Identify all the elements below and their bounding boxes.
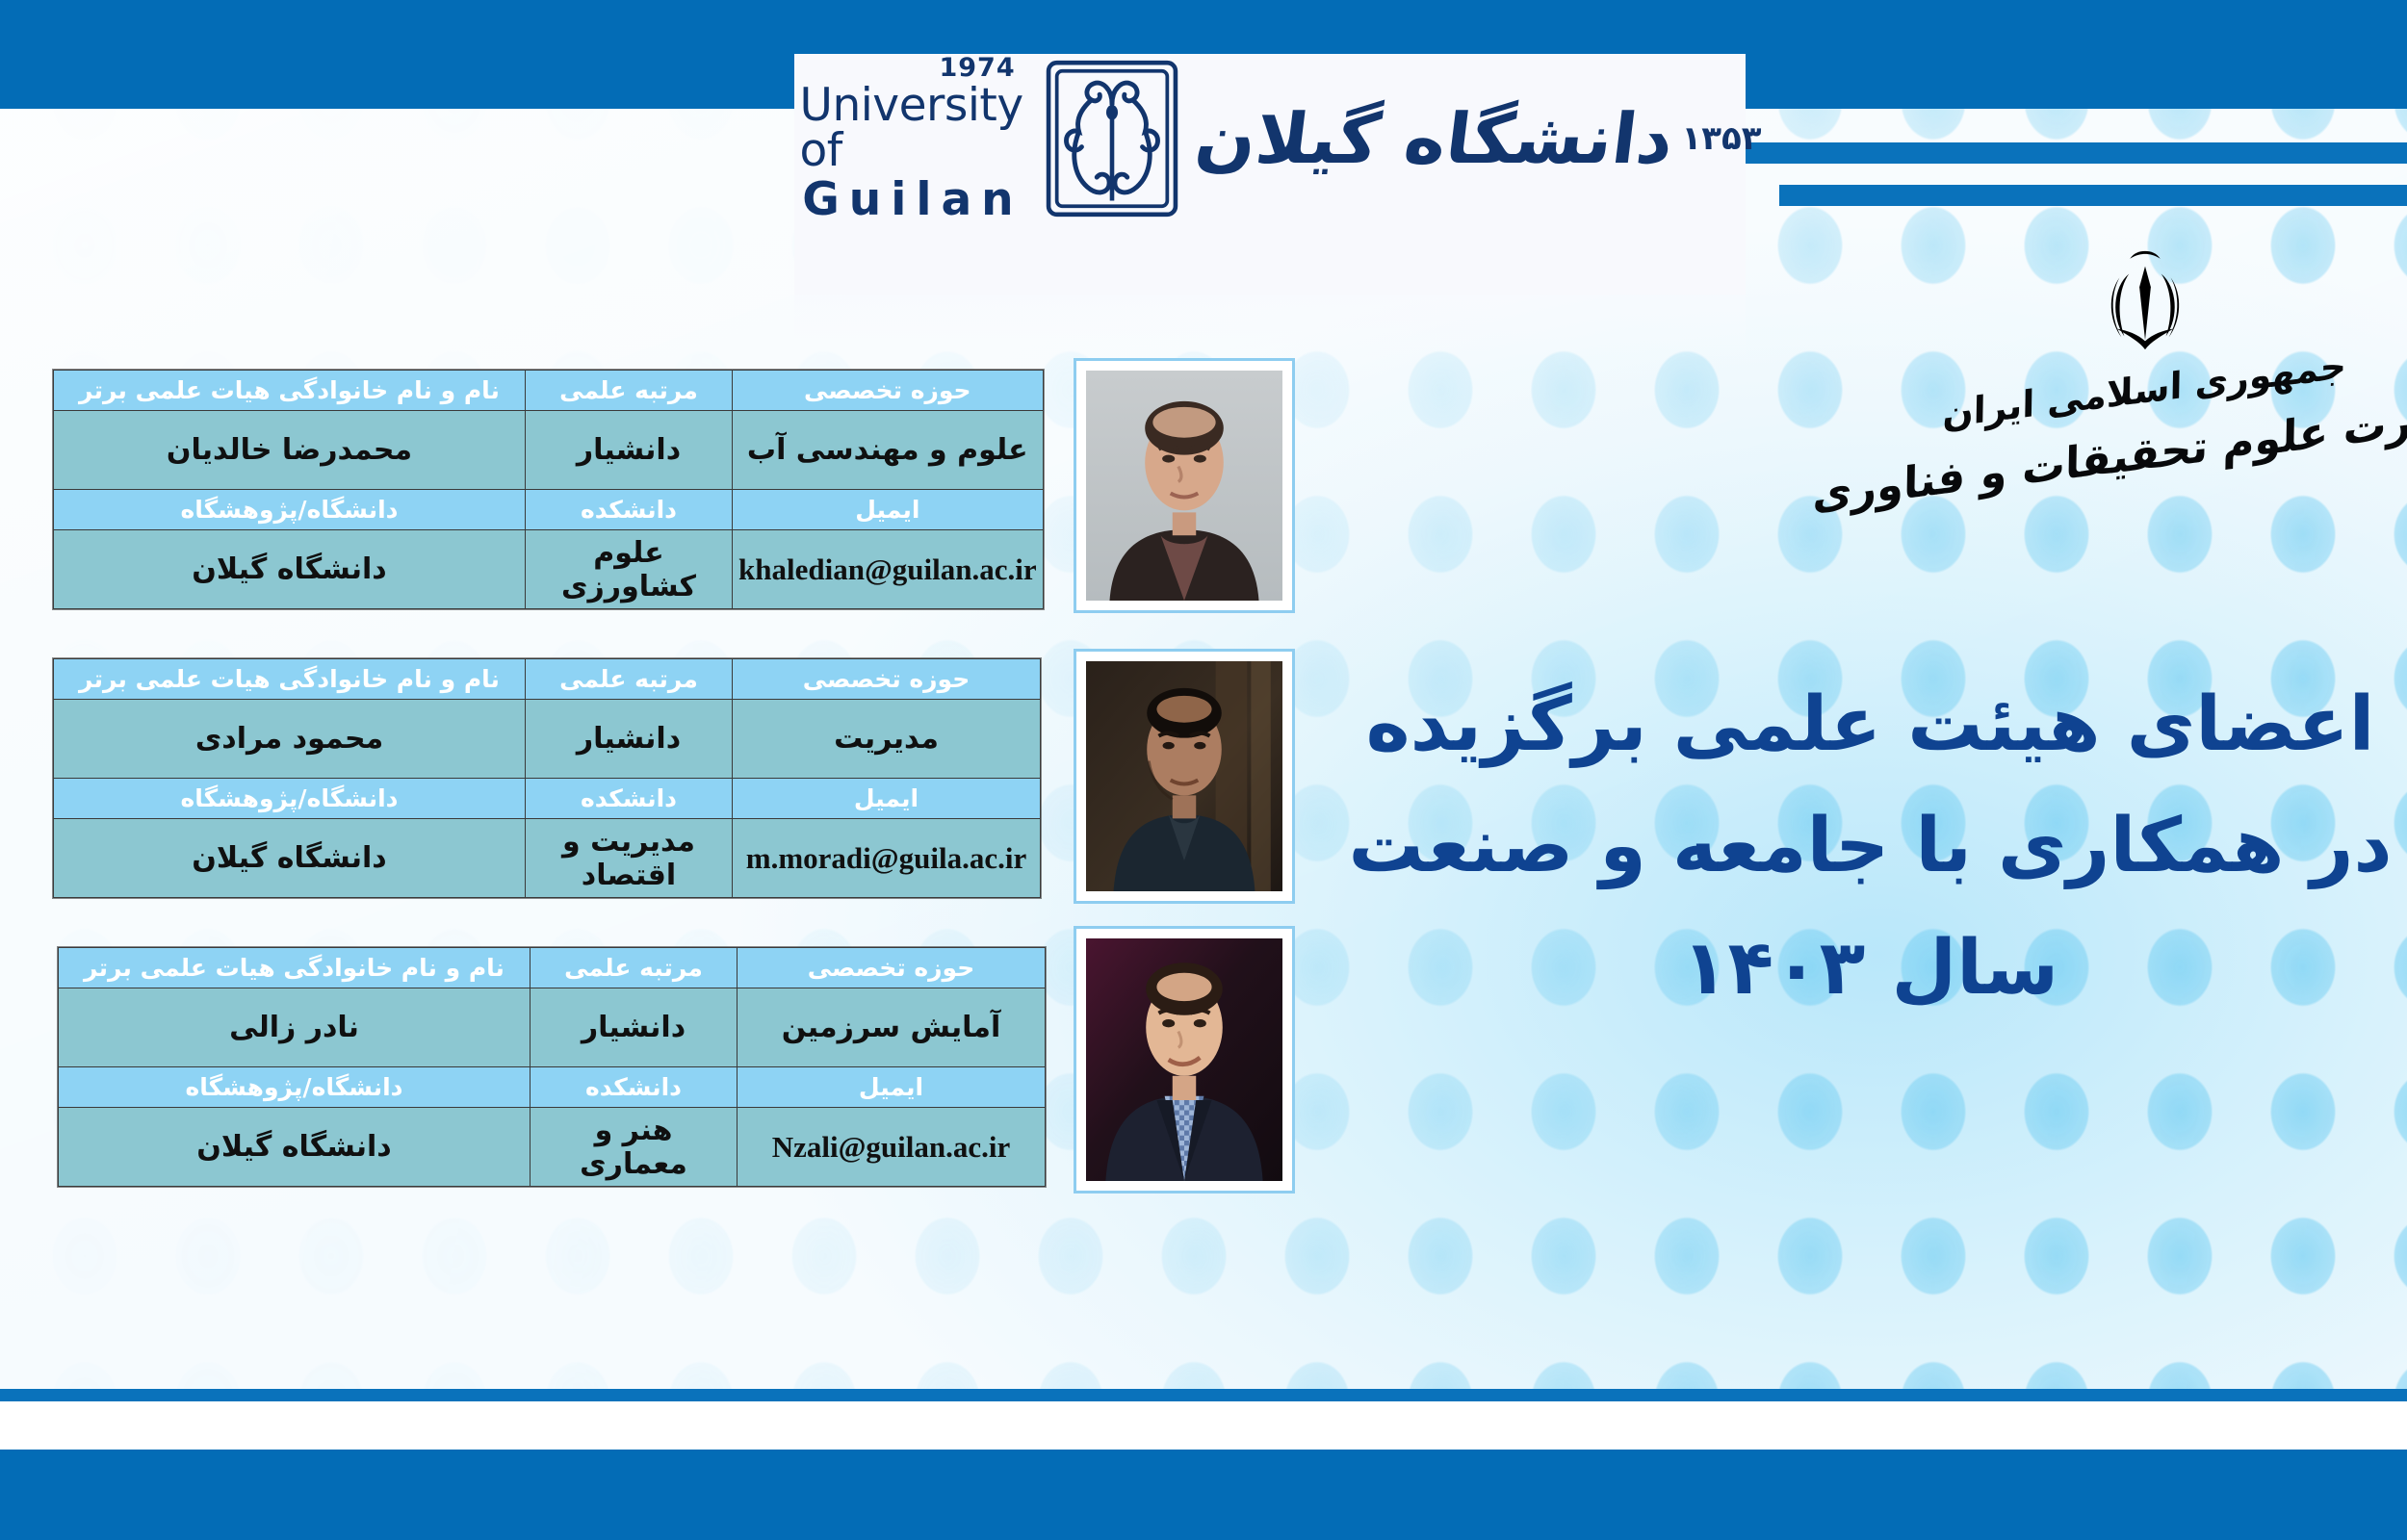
header-faculty: دانشکده — [531, 1067, 738, 1108]
portrait-nader-zali — [1086, 938, 1282, 1181]
header-rank: مرتبه علمی — [526, 371, 733, 411]
header-name: نام و نام خانوادگی هیات علمی برتر — [54, 659, 526, 700]
bottom-blue-band — [0, 1450, 2407, 1540]
header-institution: دانشگاه/پژوهشگاه — [54, 779, 526, 819]
value-specialty: آمایش سرزمین — [738, 988, 1046, 1067]
decorative-bar-bottom — [1779, 185, 2407, 206]
portrait-image-2 — [1086, 661, 1282, 891]
table-row: حوزه تخصصی مرتبه علمی نام و نام خانوادگی… — [54, 659, 1041, 700]
bottom-white-band — [0, 1401, 2407, 1450]
table-row: علوم و مهندسی آب دانشیار محمدرضا خالدیان — [54, 411, 1044, 490]
value-rank: دانشیار — [531, 988, 738, 1067]
person-card-1: حوزه تخصصی مرتبه علمی نام و نام خانوادگی… — [53, 370, 1044, 609]
value-specialty: علوم و مهندسی آب — [733, 411, 1044, 490]
logo-name-en: Guilan — [802, 177, 1022, 222]
logo-white-panel-fade — [794, 236, 1746, 361]
table-row: حوزه تخصصی مرتبه علمی نام و نام خانوادگی… — [54, 371, 1044, 411]
title-line-1: اعضای هیئت علمی برگزیده — [1348, 664, 2393, 785]
poster-canvas: 1974 University of Guilan ۱۳۵۳ دانشگاه گ… — [0, 0, 2407, 1540]
header-specialty: حوزه تخصصی — [738, 948, 1046, 988]
person-info-table: حوزه تخصصی مرتبه علمی نام و نام خانوادگی… — [53, 658, 1041, 898]
value-faculty: علوم کشاورزی — [526, 530, 733, 609]
value-institution: دانشگاه گیلان — [54, 819, 526, 898]
logo-year-fa: ۱۳۵۳ — [1681, 119, 1761, 158]
logo-university-word: University of — [800, 83, 1023, 173]
value-specialty: مدیریت — [733, 700, 1041, 779]
value-rank: دانشیار — [526, 700, 733, 779]
guilan-university-emblem-icon — [1029, 56, 1195, 221]
header-rank: مرتبه علمی — [531, 948, 738, 988]
table-row: Nzali@guilan.ac.ir هنر و معماری دانشگاه … — [59, 1108, 1046, 1187]
person-card-3: حوزه تخصصی مرتبه علمی نام و نام خانوادگی… — [58, 947, 1046, 1187]
header-institution: دانشگاه/پژوهشگاه — [54, 490, 526, 530]
portrait-mohammadreza-khaledian — [1086, 371, 1282, 601]
bottom-thin-stripe — [0, 1389, 2407, 1401]
header-specialty: حوزه تخصصی — [733, 659, 1041, 700]
header-specialty: حوزه تخصصی — [733, 371, 1044, 411]
value-institution: دانشگاه گیلان — [59, 1108, 531, 1187]
logo-year-en: 1974 — [939, 55, 1015, 81]
header-name: نام و نام خانوادگی هیات علمی برتر — [54, 371, 526, 411]
logo-persian-block: ۱۳۵۳ دانشگاه گیلان — [1201, 99, 1762, 179]
decorative-bar-top — [1746, 142, 2407, 164]
header-email: ایمیل — [733, 779, 1041, 819]
value-name: نادر زالی — [59, 988, 531, 1067]
value-email[interactable]: khaledian@guilan.ac.ir — [733, 530, 1044, 609]
table-row: مدیریت دانشیار محمود مرادی — [54, 700, 1041, 779]
value-name: محمدرضا خالدیان — [54, 411, 526, 490]
table-row: ایمیل دانشکده دانشگاه/پژوهشگاه — [59, 1067, 1046, 1108]
portrait-frame-2 — [1074, 649, 1295, 904]
ministry-block: جمهوری اسلامی ایران وزارت علوم تحقیقات و… — [1882, 245, 2407, 525]
portrait-image-1 — [1086, 371, 1282, 601]
logo-english-block: 1974 University of Guilan — [800, 55, 1023, 222]
logo-name-fa: دانشگاه گیلان — [1191, 99, 1678, 179]
value-faculty: هنر و معماری — [531, 1108, 738, 1187]
portrait-image-3 — [1086, 938, 1282, 1181]
value-institution: دانشگاه گیلان — [54, 530, 526, 609]
header-faculty: دانشکده — [526, 490, 733, 530]
portrait-frame-3 — [1074, 926, 1295, 1193]
person-info-table: حوزه تخصصی مرتبه علمی نام و نام خانوادگی… — [53, 370, 1044, 609]
table-row: آمایش سرزمین دانشیار نادر زالی — [59, 988, 1046, 1067]
header-name: نام و نام خانوادگی هیات علمی برتر — [59, 948, 531, 988]
header-faculty: دانشکده — [526, 779, 733, 819]
value-email[interactable]: m.moradi@guila.ac.ir — [733, 819, 1041, 898]
table-row: m.moradi@guila.ac.ir مدیریت و اقتصاد دان… — [54, 819, 1041, 898]
table-row: ایمیل دانشکده دانشگاه/پژوهشگاه — [54, 779, 1041, 819]
page-title: اعضای هیئت علمی برگزیده در همکاری با جام… — [1348, 664, 2393, 1029]
portrait-mahmoud-moradi — [1086, 661, 1282, 891]
title-line-3: سال ۱۴۰۳ — [1348, 908, 2393, 1029]
portrait-frame-1 — [1074, 358, 1295, 613]
header-institution: دانشگاه/پژوهشگاه — [59, 1067, 531, 1108]
table-row: ایمیل دانشکده دانشگاه/پژوهشگاه — [54, 490, 1044, 530]
value-faculty: مدیریت و اقتصاد — [526, 819, 733, 898]
university-logo: 1974 University of Guilan ۱۳۵۳ دانشگاه گ… — [867, 81, 1695, 196]
header-email: ایمیل — [738, 1067, 1046, 1108]
person-card-2: حوزه تخصصی مرتبه علمی نام و نام خانوادگی… — [53, 658, 1041, 898]
table-row: حوزه تخصصی مرتبه علمی نام و نام خانوادگی… — [59, 948, 1046, 988]
person-info-table: حوزه تخصصی مرتبه علمی نام و نام خانوادگی… — [58, 947, 1046, 1187]
iran-national-emblem-icon — [2088, 245, 2202, 361]
header-email: ایمیل — [733, 490, 1044, 530]
table-row: khaledian@guilan.ac.ir علوم کشاورزی دانش… — [54, 530, 1044, 609]
header-rank: مرتبه علمی — [526, 659, 733, 700]
value-name: محمود مرادی — [54, 700, 526, 779]
value-rank: دانشیار — [526, 411, 733, 490]
value-email[interactable]: Nzali@guilan.ac.ir — [738, 1108, 1046, 1187]
title-line-2: در همکاری با جامعه و صنعت — [1348, 785, 2393, 907]
